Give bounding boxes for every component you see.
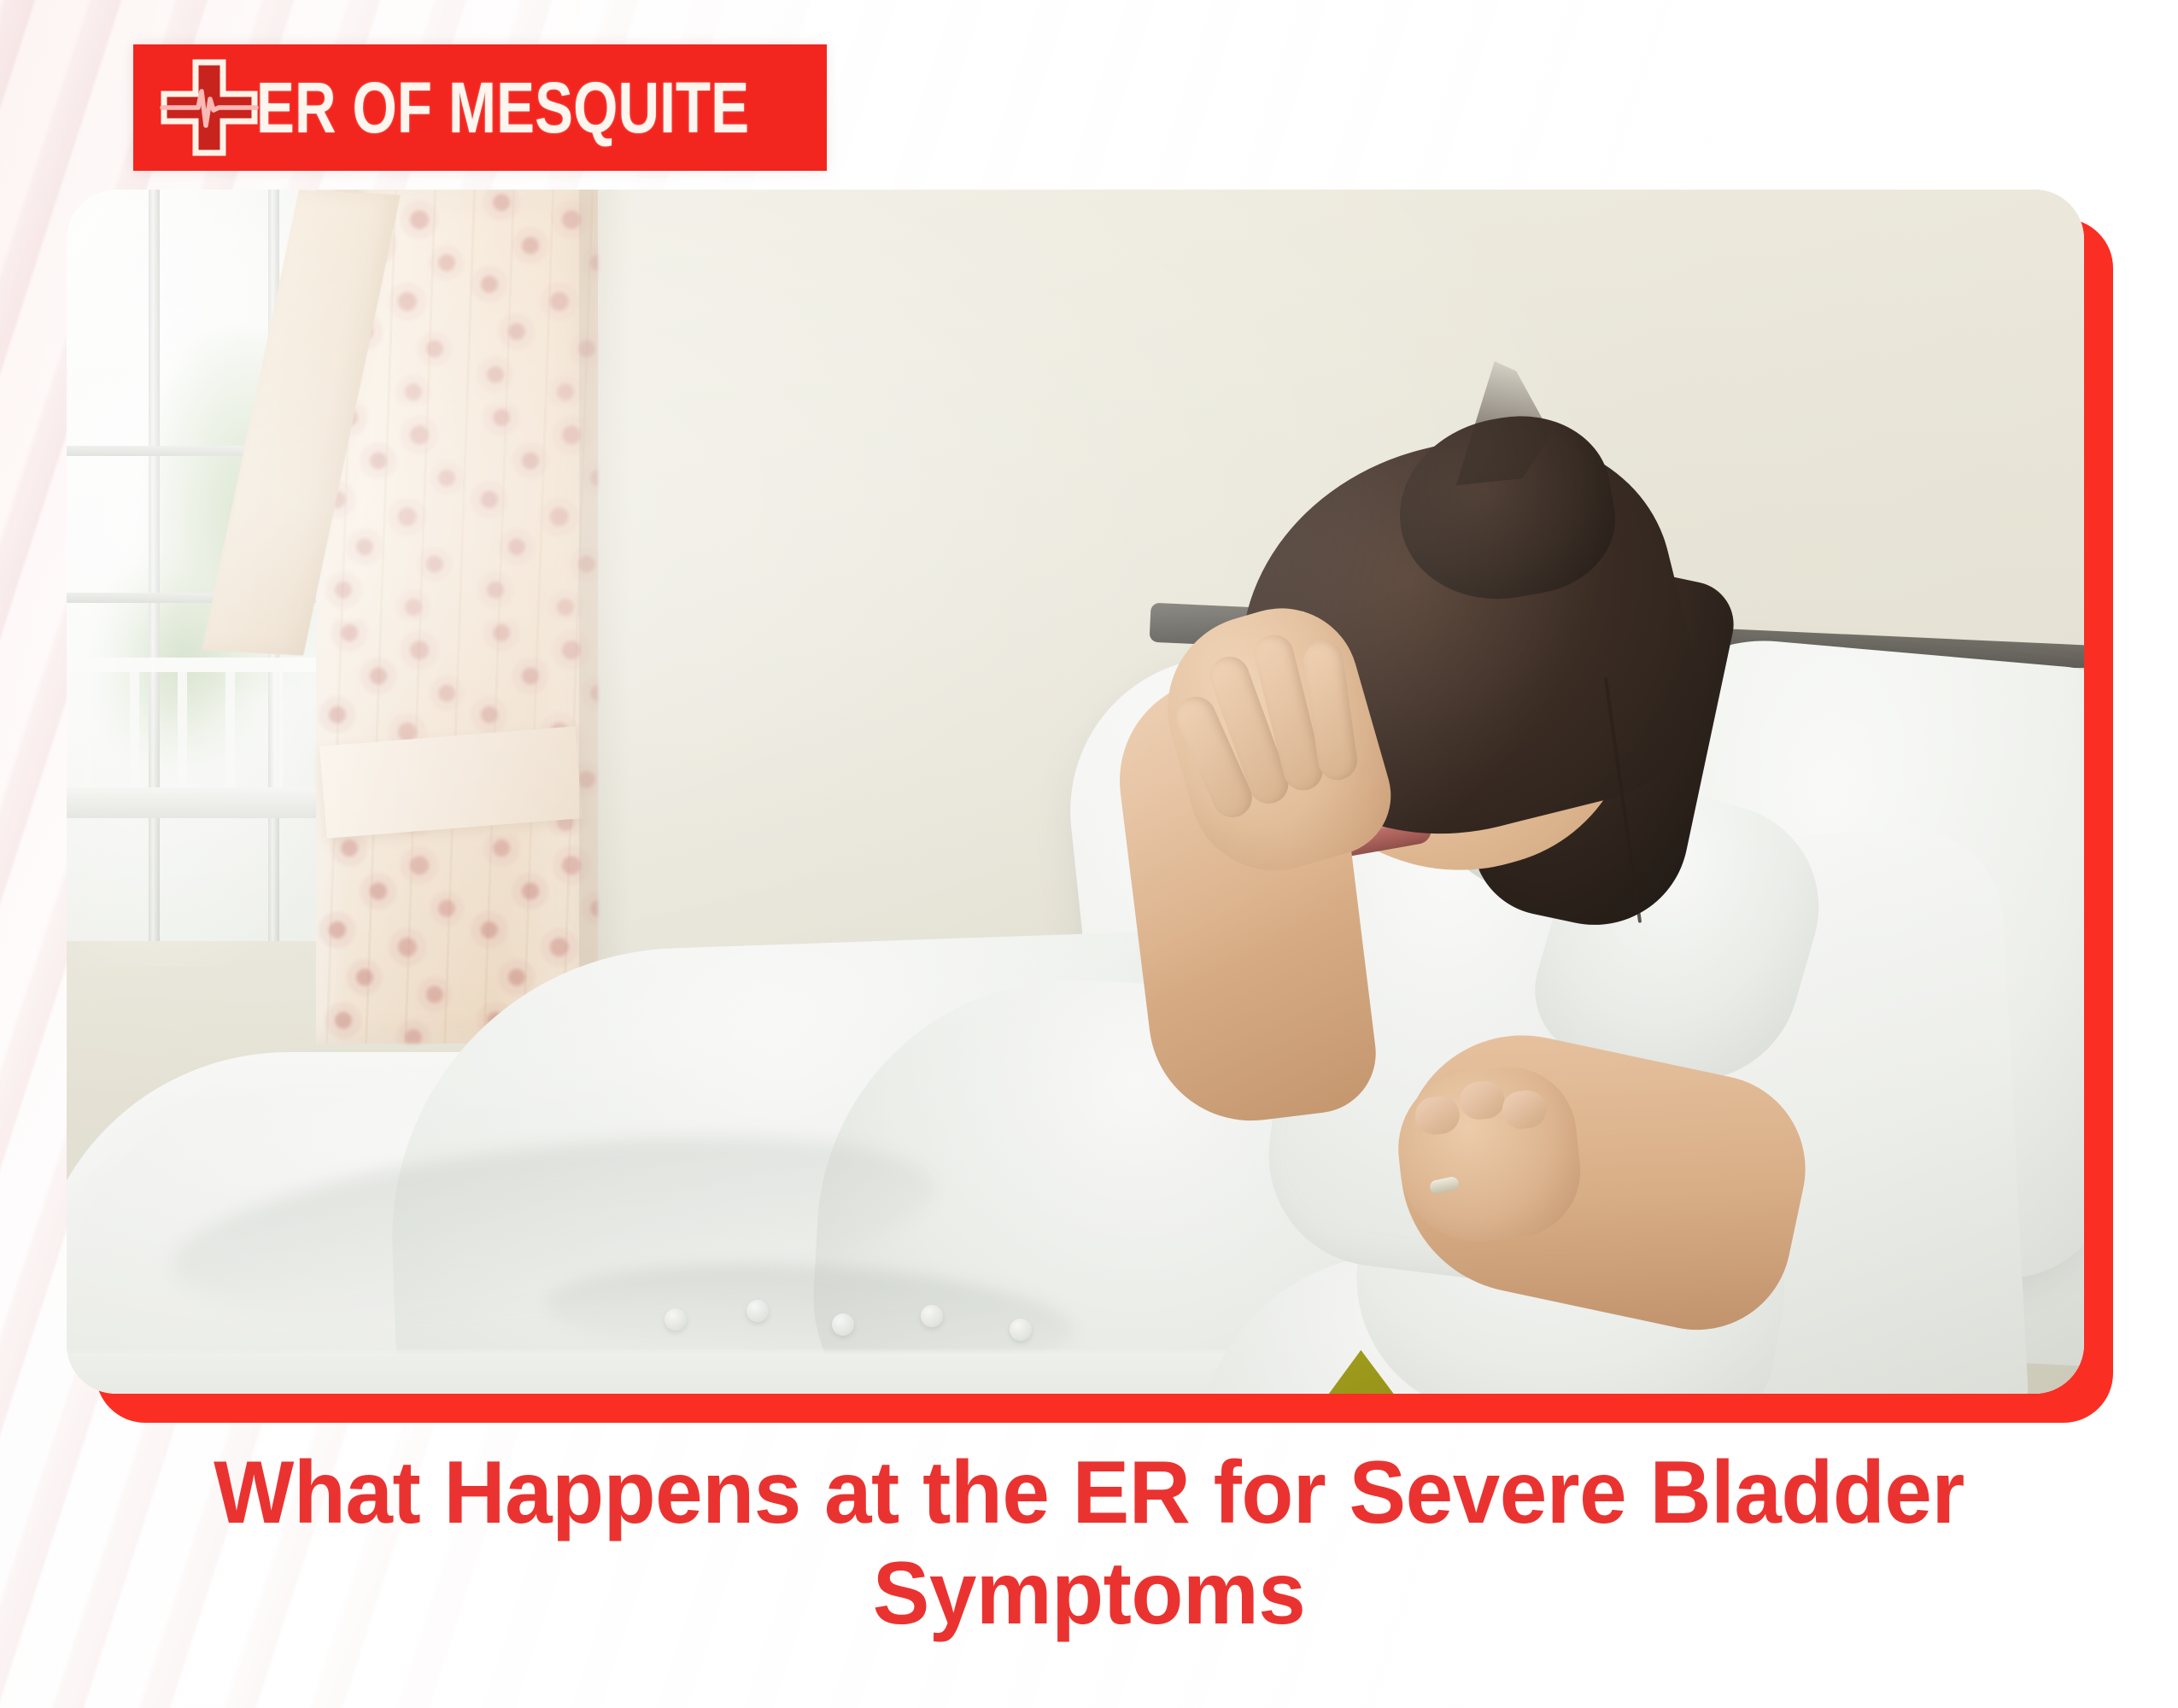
window-sill: [67, 787, 357, 818]
balcony-railing: [67, 668, 354, 796]
bedroom-scene: [67, 190, 2084, 1394]
brand-logo[interactable]: ER OF MESQUITE: [133, 44, 827, 171]
medical-cross-heartbeat-icon: [159, 57, 260, 158]
hero-photo: [67, 190, 2084, 1394]
page-canvas: ER OF MESQUITE: [0, 0, 2178, 1708]
window-mullion-vertical: [149, 190, 160, 941]
curtain-shadow: [579, 190, 630, 1044]
hero-image-block: [67, 190, 2084, 1394]
woman-figure: [1143, 395, 1929, 1394]
page-title: What Happens at the ER for Severe Bladde…: [167, 1443, 2011, 1644]
brand-logo-text: ER OF MESQUITE: [256, 72, 749, 143]
